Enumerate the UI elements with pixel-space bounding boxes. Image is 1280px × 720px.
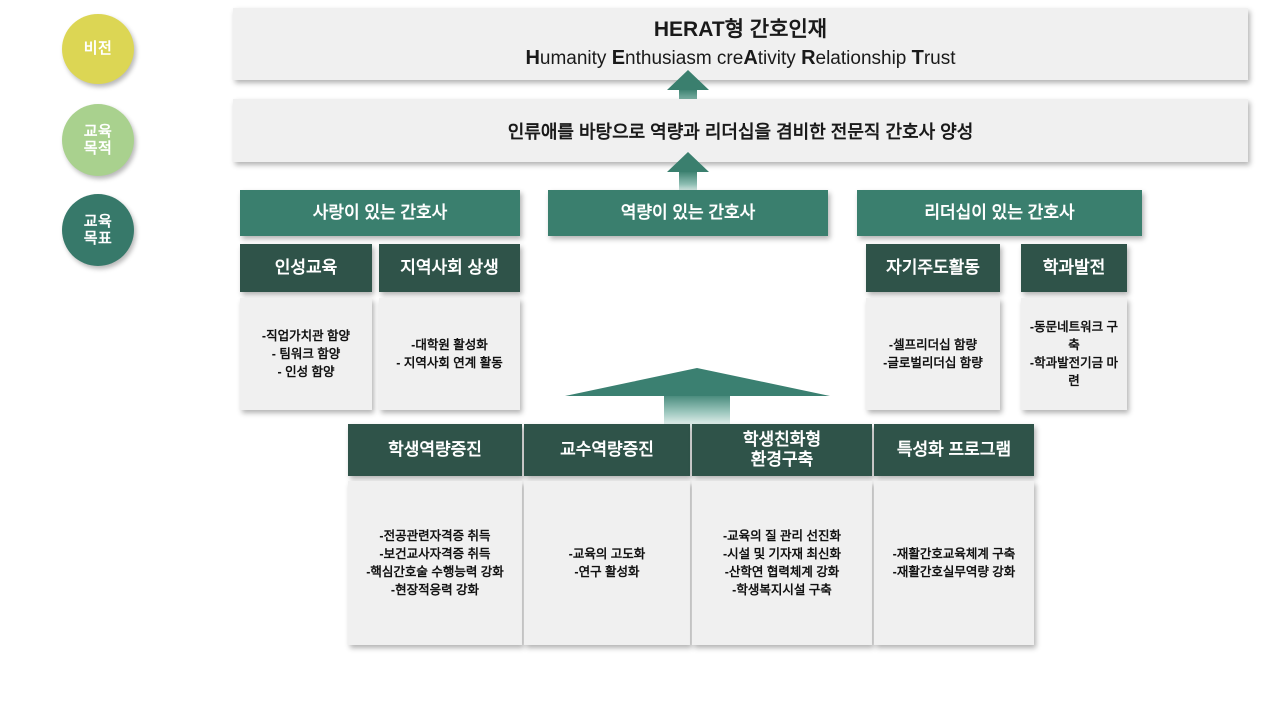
marker-circle-vision-label: 비전 (84, 40, 113, 57)
sub-header-self-directed-activity: 자기주도활동 (866, 244, 1000, 292)
marker-circle-goal: 교육 목표 (62, 194, 134, 266)
body-community-cooperation: -대학원 활성화 - 지역사회 연계 활동 (379, 298, 520, 410)
sub-header-character-education-label: 인성교육 (275, 258, 338, 278)
arrow-head (565, 368, 830, 396)
sub-header-community-cooperation-label: 지역사회 상생 (400, 258, 499, 278)
body-self-directed-activity: -셀프리더십 함량 -글로벌리더십 함량 (866, 298, 1000, 410)
marker-circle-purpose: 교육 목적 (62, 104, 134, 176)
sub-header-character-education: 인성교육 (240, 244, 372, 292)
bottom-header-faculty-competency-label: 교수역량증진 (560, 440, 654, 460)
bottom-body-student-competency: -전공관련자격증 취득 -보건교사자격증 취득 -핵심간호술 수행능력 강화 -… (348, 481, 522, 645)
marker-circle-goal-label: 교육 목표 (84, 213, 113, 248)
bottom-body-specialized-program: -재활간호교육체계 구축 -재활간호실무역량 강화 (874, 481, 1034, 645)
vision-acronym: Humanity Enthusiasm creAtivity Relations… (525, 45, 955, 72)
group-header-love-label: 사랑이 있는 간호사 (313, 203, 448, 223)
bottom-header-specialized-program: 특성화 프로그램 (874, 424, 1034, 476)
bottom-header-student-friendly-environment-label: 학생친화형 환경구축 (743, 430, 821, 471)
diagram-canvas: 비전 교육 목적 교육 목표 HERAT형 간호인재 Humanity Enth… (0, 0, 1280, 720)
body-department-development: -동문네트워크 구축 -학과발전기금 마련 (1021, 298, 1127, 410)
bottom-header-student-competency-label: 학생역량증진 (388, 440, 482, 460)
bottom-body-faculty-competency: -교육의 고도화 -연구 활성화 (524, 481, 690, 645)
group-header-competency-label: 역량이 있는 간호사 (621, 203, 756, 223)
body-character-education: -직업가치관 함양 - 팀워크 함양 - 인성 함양 (240, 298, 372, 410)
purpose-banner: 인류애를 바탕으로 역량과 리더십을 겸비한 전문직 간호사 양성 (233, 99, 1248, 162)
marker-circle-purpose-label: 교육 목적 (84, 123, 113, 158)
group-header-leadership: 리더십이 있는 간호사 (857, 190, 1142, 236)
bottom-header-student-competency: 학생역량증진 (348, 424, 522, 476)
purpose-text: 인류애를 바탕으로 역량과 리더십을 겸비한 전문직 간호사 양성 (508, 118, 974, 144)
group-header-leadership-label: 리더십이 있는 간호사 (924, 203, 1074, 223)
sub-header-self-directed-activity-label: 자기주도활동 (886, 258, 980, 278)
arrow-up-wide (565, 368, 830, 430)
sub-header-department-development: 학과발전 (1021, 244, 1127, 292)
sub-header-community-cooperation: 지역사회 상생 (379, 244, 520, 292)
marker-circle-vision: 비전 (62, 14, 134, 84)
group-header-love: 사랑이 있는 간호사 (240, 190, 520, 236)
sub-header-department-development-label: 학과발전 (1043, 258, 1106, 278)
bottom-header-student-friendly-environment: 학생친화형 환경구축 (692, 424, 872, 476)
arrow-head (667, 70, 709, 90)
vision-banner: HERAT형 간호인재 Humanity Enthusiasm creAtivi… (233, 8, 1248, 80)
vision-title: HERAT형 간호인재 (525, 16, 955, 44)
bottom-header-specialized-program-label: 특성화 프로그램 (897, 440, 1011, 460)
bottom-header-faculty-competency: 교수역량증진 (524, 424, 690, 476)
bottom-body-student-friendly-environment: -교육의 질 관리 선진화 -시설 및 기자재 최신화 -산학연 협력체계 강화… (692, 481, 872, 645)
group-header-competency: 역량이 있는 간호사 (548, 190, 828, 236)
arrow-head (667, 152, 709, 172)
